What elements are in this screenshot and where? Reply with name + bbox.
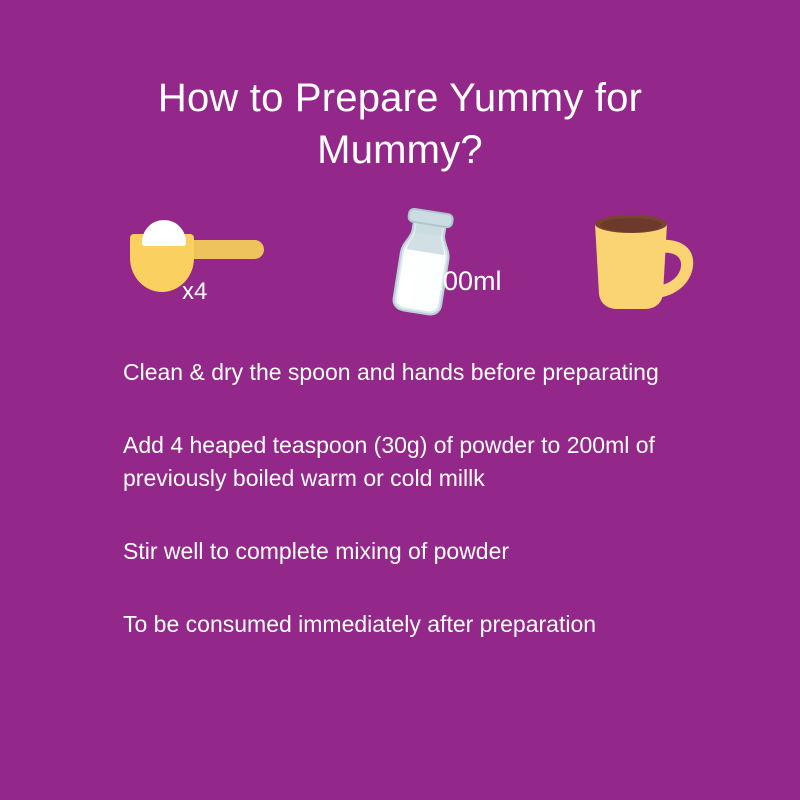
scoop-handle-icon [182, 240, 264, 259]
instruction-steps-list: Clean & dry the spoon and hands before p… [123, 356, 723, 641]
list-item: Stir well to complete mixing of powder [123, 535, 723, 568]
scoop-count-label: x4 [182, 278, 207, 306]
milk-bottle-icon: 200ml [378, 198, 498, 323]
ingredient-icon-row: x4 200ml [0, 190, 800, 330]
list-item: Add 4 heaped teaspoon (30g) of powder to… [123, 429, 723, 495]
page-title: How to Prepare Yummy for Mummy? [100, 72, 700, 176]
scoop-icon: x4 [130, 220, 265, 290]
mug-glyph [583, 206, 698, 316]
list-item: To be consumed immediately after prepara… [123, 608, 723, 641]
milk-volume-label: 200ml [428, 266, 502, 296]
milk-bottle-glyph [378, 198, 498, 323]
preparation-instructions-poster: How to Prepare Yummy for Mummy? x4 [0, 0, 800, 800]
list-item: Clean & dry the spoon and hands before p… [123, 356, 723, 389]
scoop-powder-mound-icon [142, 220, 186, 246]
mug-icon [583, 206, 698, 316]
